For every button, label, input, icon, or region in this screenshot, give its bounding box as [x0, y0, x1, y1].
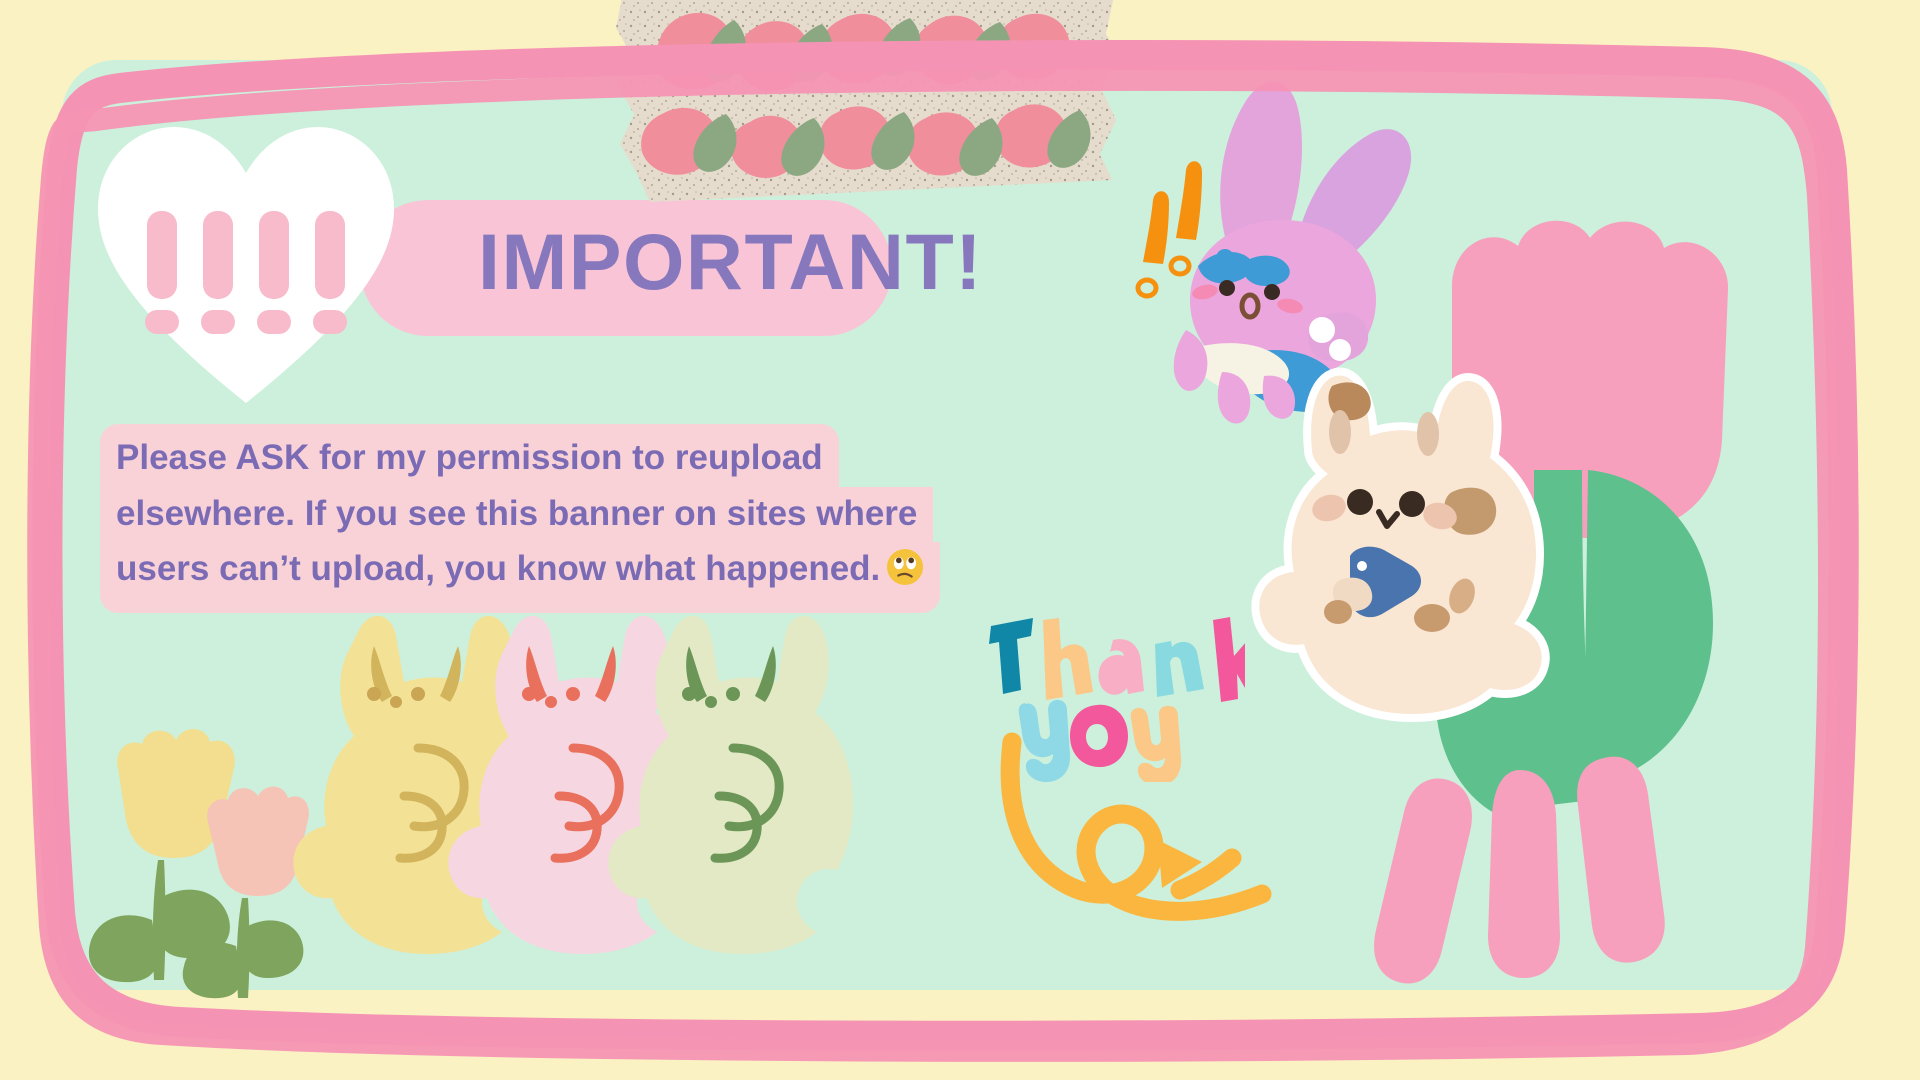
banner-canvas: IMPORTANT! Please ASK for my permission … [0, 0, 1920, 1080]
notice-message: Please ASK for my permission to reupload… [100, 424, 960, 613]
orange-exclamation-marks [1138, 161, 1202, 296]
message-line-1: Please ASK for my permission to reupload [100, 424, 839, 487]
letter-a [1099, 639, 1145, 695]
letter-T [989, 618, 1033, 694]
small-tulip-pair [89, 729, 309, 998]
thank-you-lettering [985, 612, 1245, 782]
exclamation-1 [147, 211, 177, 351]
thank-you-line-2 [1019, 700, 1181, 782]
letter-u [1131, 706, 1181, 782]
flying-pink-bunny-sticker [1174, 82, 1411, 424]
cream-bunny-with-phone-sticker [1259, 376, 1541, 714]
letter-k [1213, 617, 1245, 702]
exclamation-2 [203, 211, 233, 351]
letter-n [1155, 641, 1204, 697]
message-line-3-text: users can’t upload, you know what happen… [116, 549, 880, 588]
page-title: IMPORTANT! [478, 216, 983, 308]
exclamation-3 [259, 211, 289, 351]
letter-o [1070, 705, 1128, 767]
message-line-3: users can’t upload, you know what happen… [100, 542, 940, 613]
letter-h [1043, 618, 1093, 700]
thank-you-line-1 [989, 617, 1245, 702]
eye-roll-emoji [886, 548, 924, 599]
message-line-2: elsewhere. If you see this banner on sit… [100, 487, 933, 543]
washi-tape-tulip-pattern [614, 0, 1122, 212]
exclamation-group [122, 211, 370, 351]
white-heart-with-exclamations [96, 125, 396, 405]
letter-y [1019, 700, 1070, 782]
exclamation-4 [315, 211, 345, 351]
